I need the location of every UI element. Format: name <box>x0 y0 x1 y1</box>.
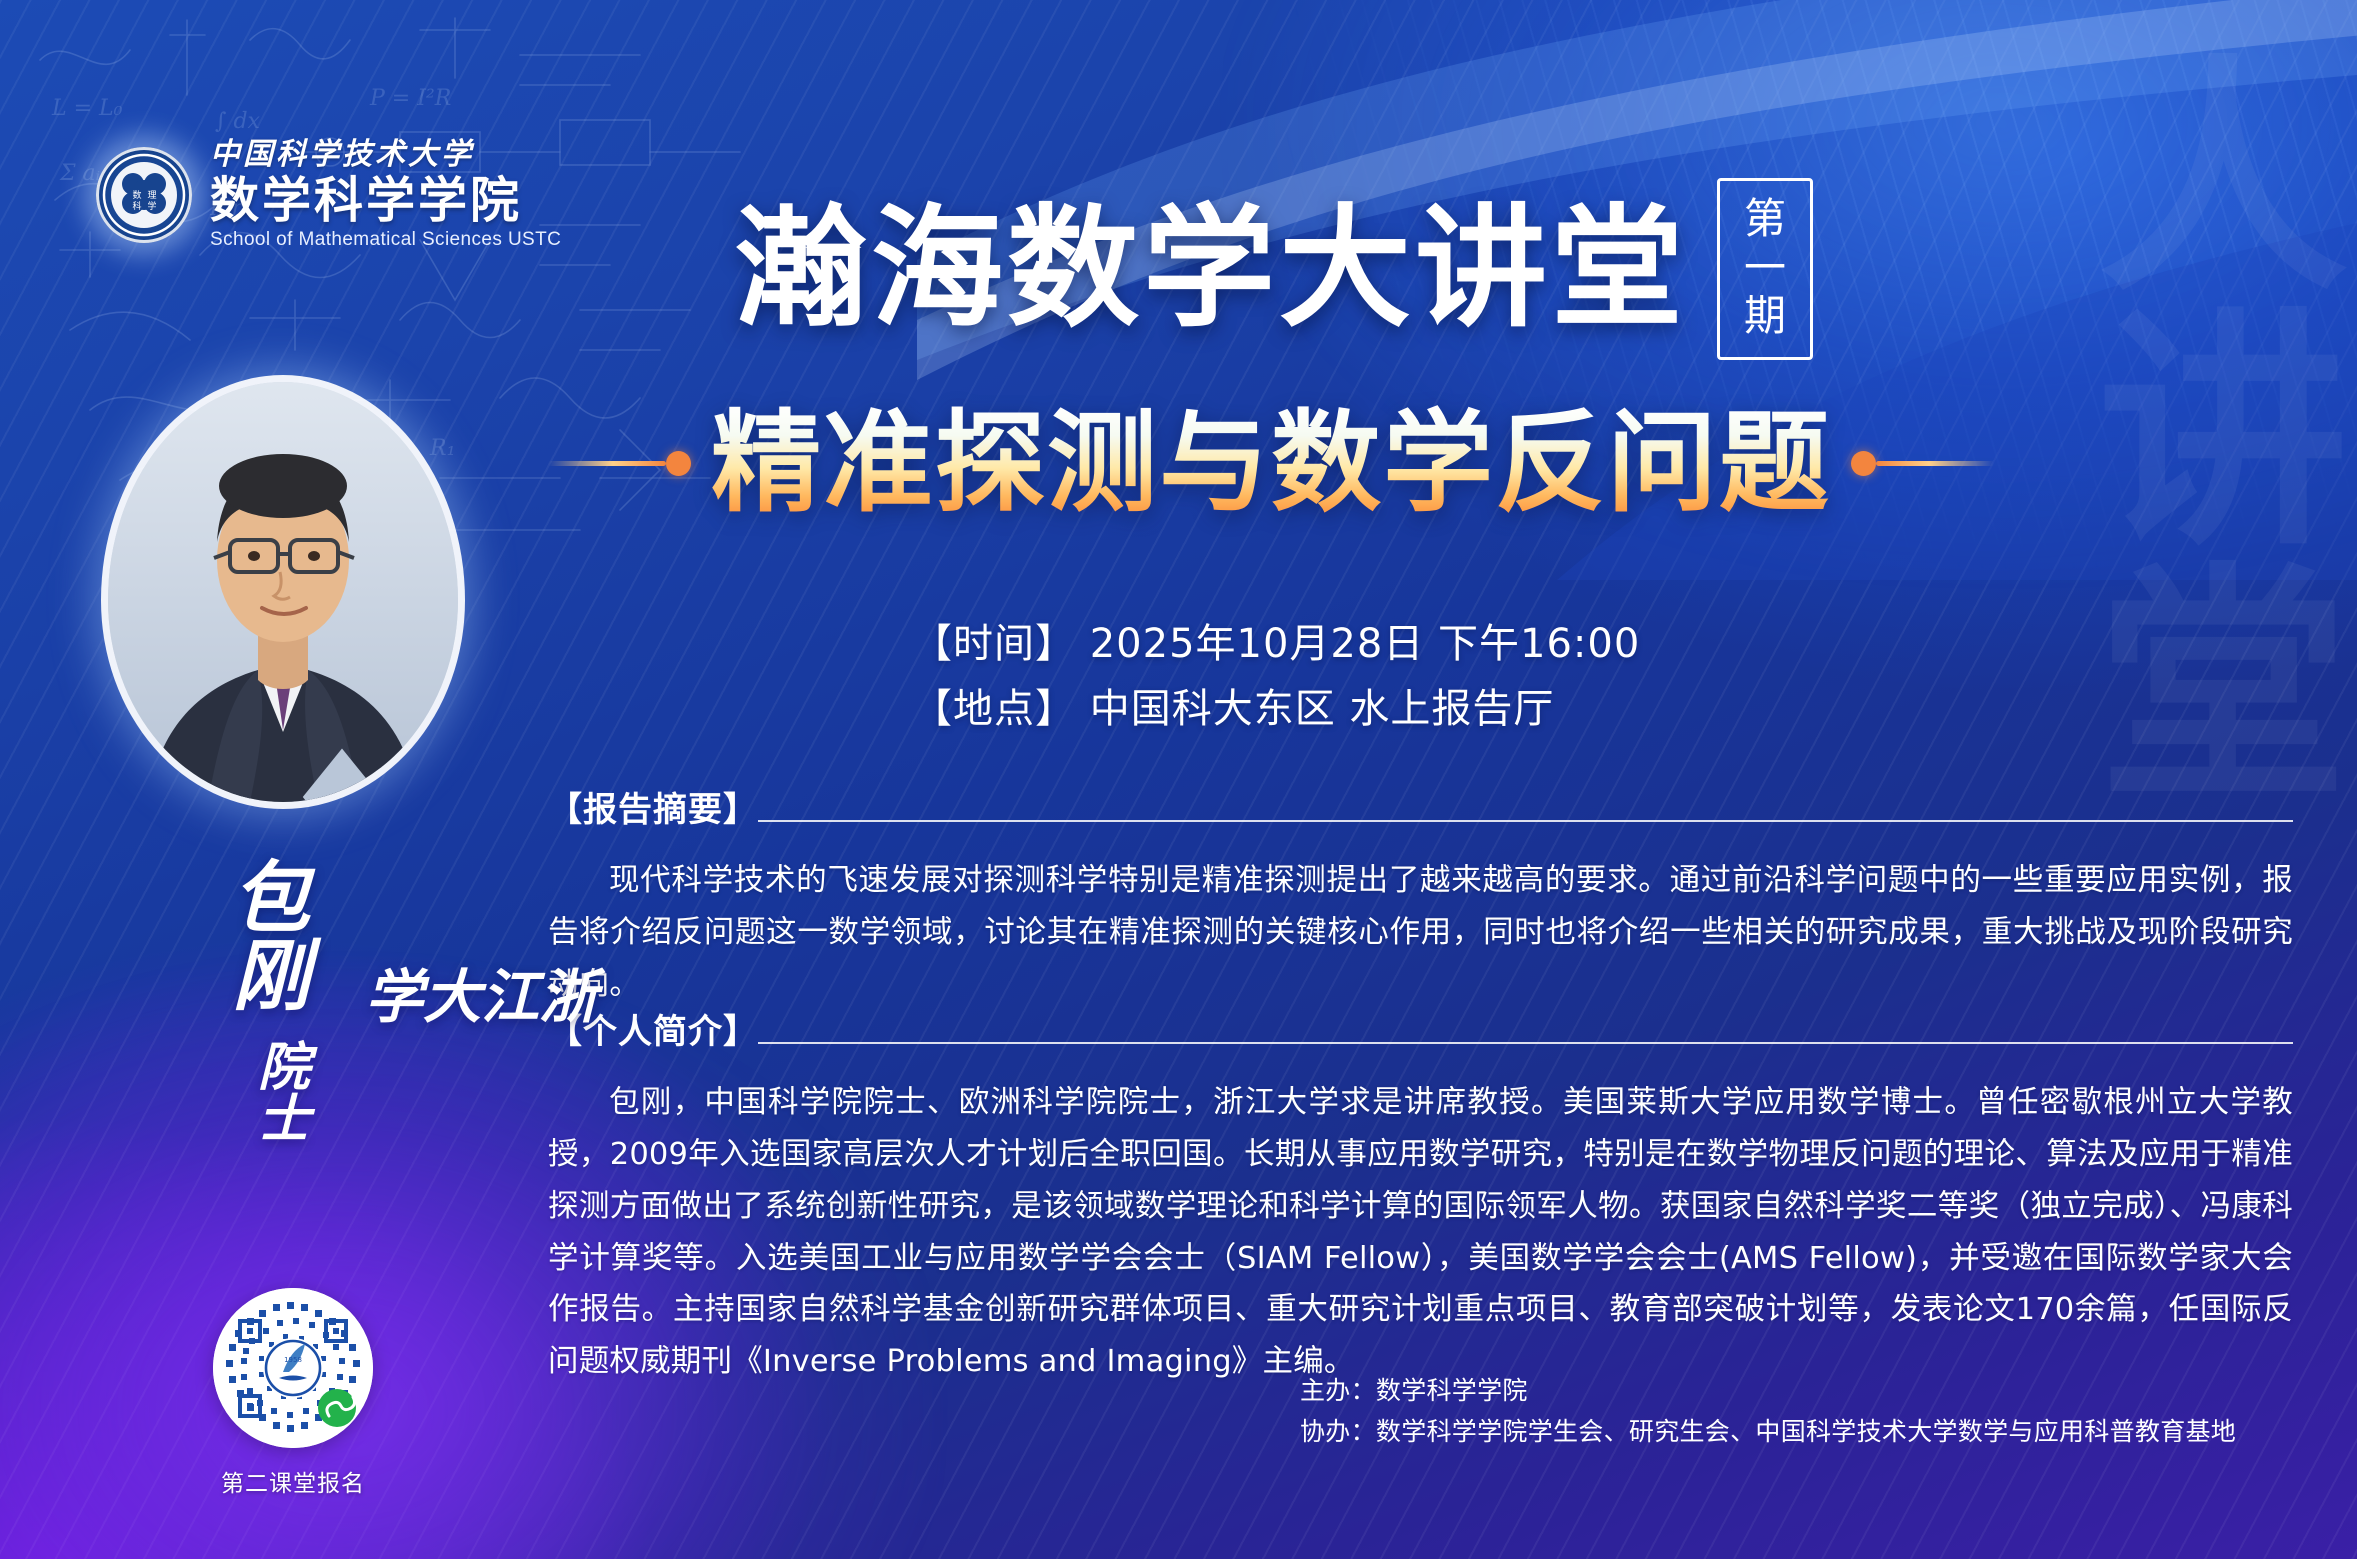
ustc-seal-icon: 数理 科学 <box>96 147 192 243</box>
svg-text:数: 数 <box>132 189 141 201</box>
organizer-host: 主办：数学科学学院 <box>1300 1370 2236 1411</box>
svg-text:P = I²R: P = I²R <box>369 86 451 111</box>
bio-section: 【个人简介】 包刚，中国科学院院士、欧洲科学院院士，浙江大学求是讲席教授。美国莱… <box>548 1004 2293 1388</box>
brand-line-university: 中国科学技术大学 <box>210 140 561 170</box>
page-title: 瀚海数学大讲堂 <box>735 203 1687 335</box>
issue-char-1: 第 <box>1744 195 1786 244</box>
svg-text:学: 学 <box>147 200 156 212</box>
abstract-rule <box>758 820 2293 822</box>
qr-code-icon[interactable]: 1958 <box>213 1288 373 1448</box>
title-row: 瀚海数学大讲堂 第 一 期 <box>735 178 1813 360</box>
abstract-body: 现代科学技术的飞速发展对探测科学特别是精准探测提出了越来越高的要求。通过前沿科学… <box>548 855 2293 1011</box>
portrait-figure <box>108 382 458 802</box>
qr-pattern: 1958 <box>213 1288 373 1448</box>
brand-line-school: 数学科学学院 <box>210 176 561 225</box>
svg-text:Σ aᵢ: Σ aᵢ <box>59 161 100 186</box>
svg-text:∫ dx: ∫ dx <box>215 109 261 134</box>
gradient-line-right-icon <box>1851 451 1994 476</box>
brand-block: 数理 科学 中国科学技术大学 数学科学学院 School of Mathemat… <box>96 140 561 249</box>
portrait-bubble <box>108 382 458 802</box>
wechat-miniprogram-icon <box>318 1389 356 1427</box>
brand-text-block: 中国科学技术大学 数学科学学院 School of Mathematical S… <box>210 140 561 249</box>
event-time-label: 【时间】 <box>912 621 1076 667</box>
organizers-block: 主办：数学科学学院 协办：数学科学学院学生会、研究生会、中国科学技术大学数学与应… <box>1300 1370 2236 1453</box>
abstract-heading-row: 【报告摘要】 <box>548 782 2293 831</box>
bio-rule <box>758 1042 2293 1044</box>
speaker-rank-text: 院士 <box>258 1042 314 1146</box>
seal-inner-graphic: 数理 科学 <box>102 153 186 237</box>
qr-block[interactable]: 1958 第二课堂报名 <box>198 1288 388 1498</box>
issue-badge: 第 一 期 <box>1717 178 1813 360</box>
watermark-char: 人讲堂 <box>2055 46 2346 808</box>
speaker-name-text: 包刚 <box>232 860 312 1016</box>
abstract-section: 【报告摘要】 现代科学技术的飞速发展对探测科学特别是精准探测提出了越来越高的要求… <box>548 782 2293 1011</box>
event-time-row: 【时间】 2025年10月28日 下午16:00 <box>912 612 1640 677</box>
orange-dot-icon <box>1851 451 1876 476</box>
gradient-line-left-icon <box>548 451 691 476</box>
subtitle-row: 精准探测与数学反问题 <box>548 405 1968 522</box>
poster-root: L = L₀ ∫ dx Σ aᵢ P = I²R R₁ π r² 人讲堂 <box>0 0 2357 1559</box>
event-time-value: 2025年10月28日 下午16:00 <box>1090 621 1641 667</box>
brand-line-english: School of Mathematical Sciences USTC <box>210 230 561 249</box>
event-place-value: 中国科大东区 水上报告厅 <box>1090 686 1555 732</box>
event-place-label: 【地点】 <box>912 686 1076 732</box>
event-place-row: 【地点】 中国科大东区 水上报告厅 <box>912 677 1640 742</box>
organizer-cohost: 协办：数学科学学院学生会、研究生会、中国科学技术大学数学与应用科普教育基地 <box>1300 1411 2236 1452</box>
page-subtitle: 精准探测与数学反问题 <box>691 405 1851 522</box>
svg-text:1958: 1958 <box>284 1356 302 1364</box>
watermark-text: 人讲堂 <box>2085 46 2315 808</box>
orange-dot-icon <box>666 451 691 476</box>
speaker-portrait-icon <box>108 382 458 802</box>
bio-heading-row: 【个人简介】 <box>548 1004 2293 1053</box>
qr-label: 第二课堂报名 <box>198 1464 388 1498</box>
event-meta: 【时间】 2025年10月28日 下午16:00 【地点】 中国科大东区 水上报… <box>912 612 1640 742</box>
speaker-affiliation-text: 浙江大学 <box>360 966 592 1028</box>
svg-text:理: 理 <box>147 190 156 201</box>
svg-text:科: 科 <box>132 200 141 212</box>
svg-text:L = L₀: L = L₀ <box>51 96 123 121</box>
issue-char-3: 期 <box>1744 292 1786 341</box>
issue-char-2: 一 <box>1744 244 1786 293</box>
abstract-heading: 【报告摘要】 <box>548 782 758 831</box>
bio-body: 包刚，中国科学院院士、欧洲科学院院士，浙江大学求是讲席教授。美国莱斯大学应用数学… <box>548 1077 2293 1388</box>
